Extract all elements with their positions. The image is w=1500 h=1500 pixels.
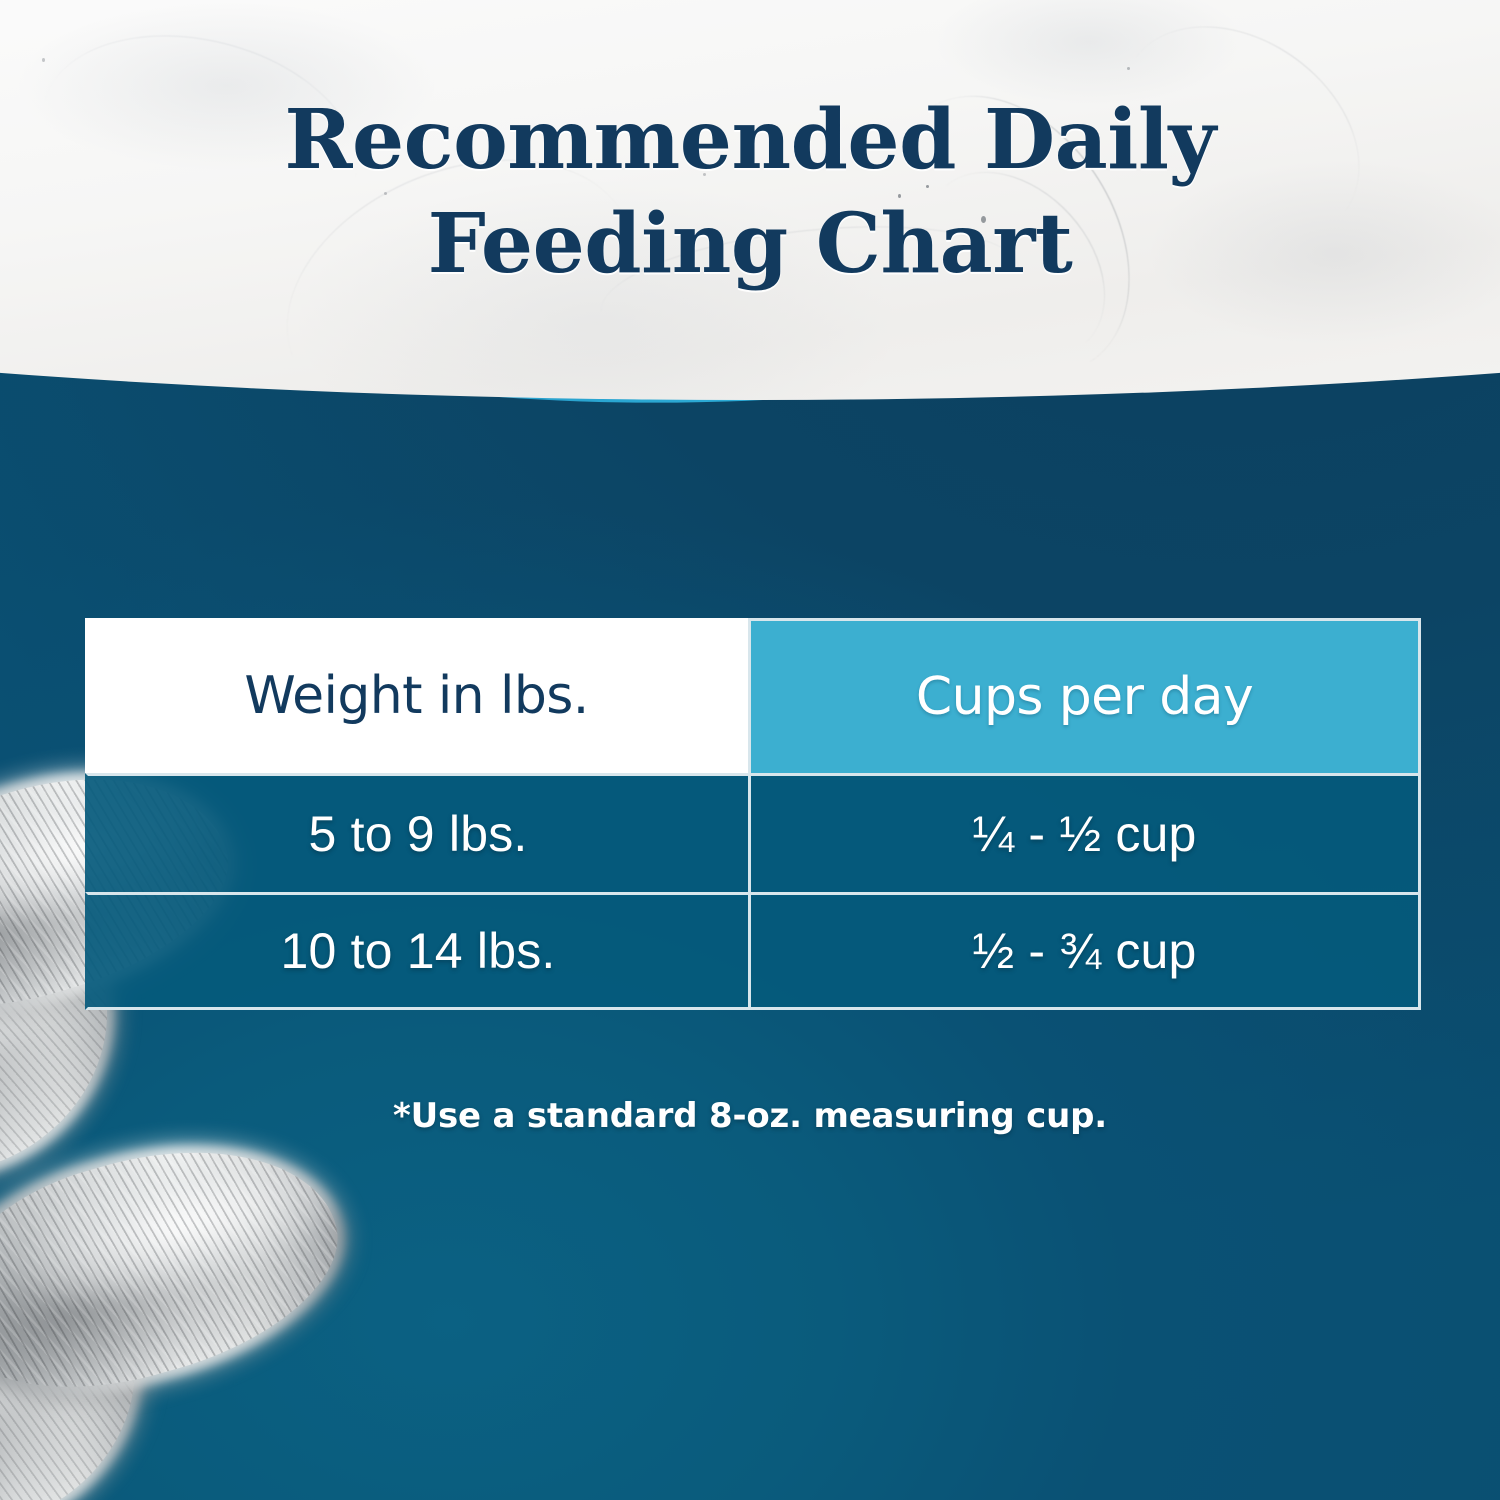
table-row: 5 to 9 lbs. ¼ - ½ cup — [85, 773, 1421, 892]
fur-highlight — [0, 1109, 362, 1426]
column-header-weight: Weight in lbs. — [85, 618, 751, 773]
table-row: 10 to 14 lbs. ½ - ¾ cup — [85, 892, 1421, 1011]
table-body: 5 to 9 lbs. ¼ - ½ cup 10 to 14 lbs. ½ - … — [85, 773, 1421, 1010]
marble-speck — [42, 58, 45, 62]
cell-cups-amount: ¼ - ½ cup — [751, 773, 1421, 892]
cell-weight-range: 10 to 14 lbs. — [85, 892, 751, 1011]
feeding-chart-graphic: Recommended Daily Feeding Chart Weight i… — [0, 0, 1500, 1500]
cell-weight-range: 5 to 9 lbs. — [85, 773, 751, 892]
cell-cups-amount: ½ - ¾ cup — [751, 892, 1421, 1011]
page-title: Recommended Daily Feeding Chart — [0, 88, 1500, 296]
footnote-text: *Use a standard 8-oz. measuring cup. — [0, 1096, 1500, 1136]
feeding-chart-table: Weight in lbs. Cups per day 5 to 9 lbs. … — [85, 618, 1421, 1010]
page-title-line-2: Feeding Chart — [0, 192, 1500, 296]
column-header-cups: Cups per day — [751, 618, 1421, 773]
marble-speck — [1127, 67, 1130, 70]
table-header-row: Weight in lbs. Cups per day — [85, 618, 1421, 773]
table-header: Weight in lbs. Cups per day — [85, 618, 1421, 773]
cat-paw-icon — [0, 1109, 362, 1426]
page-title-line-1: Recommended Daily — [0, 88, 1500, 192]
